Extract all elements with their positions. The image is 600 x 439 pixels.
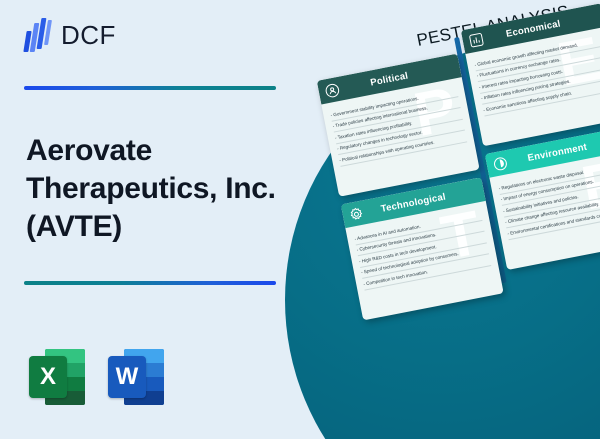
poster-canvas: DCF Aerovate Therapeutics, Inc. (AVTE) X… xyxy=(0,0,600,439)
word-file-icon[interactable]: W xyxy=(108,349,164,405)
bar-chart-icon xyxy=(468,31,486,49)
gear-icon xyxy=(348,205,366,223)
bar-chart-logo-icon xyxy=(24,18,52,52)
pestel-card-environment[interactable]: Environment E Regulations on electronic … xyxy=(485,127,600,270)
pestel-card-political[interactable]: Political P Government stability impacti… xyxy=(317,54,480,197)
leaf-circle-icon xyxy=(492,155,510,173)
pestel-card-technological[interactable]: Technological T Advances in AI and autom… xyxy=(341,177,504,320)
person-shield-icon xyxy=(324,81,342,99)
word-file-icon-letter: W xyxy=(108,356,146,398)
excel-file-icon[interactable]: X xyxy=(29,349,85,405)
excel-file-icon-letter: X xyxy=(29,356,67,398)
divider-top xyxy=(24,86,276,90)
brand-logo[interactable]: DCF xyxy=(24,18,116,52)
file-format-list: X W xyxy=(29,349,164,405)
divider-bottom xyxy=(24,281,276,285)
page-title: Aerovate Therapeutics, Inc. (AVTE) xyxy=(26,132,306,246)
brand-name: DCF xyxy=(61,20,116,51)
